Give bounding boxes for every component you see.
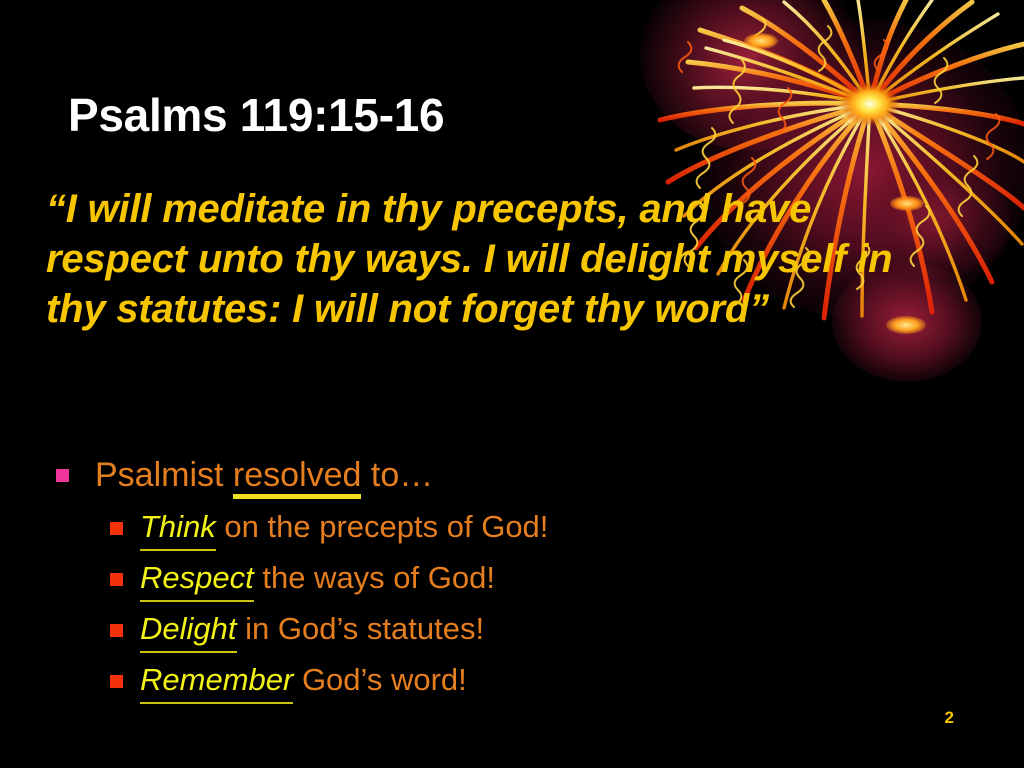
bullet-rest-text: God’s word! bbox=[293, 662, 466, 697]
bullet-keyword-remember: Remember bbox=[140, 655, 293, 705]
square-bullet-icon bbox=[56, 469, 69, 482]
bullet-level2-item: Respect the ways of God! bbox=[40, 553, 940, 603]
bullet-rest-text: the ways of God! bbox=[254, 560, 495, 595]
presentation-slide: Psalms 119:15-16 “I will meditate in thy… bbox=[0, 0, 1024, 768]
bullet-level2-item: Remember God’s word! bbox=[40, 655, 940, 705]
bullet-list: Psalmist resolved to… Think on the prece… bbox=[40, 452, 940, 706]
bullet-level2-item: Think on the precepts of God! bbox=[40, 502, 940, 552]
scripture-quote: “I will meditate in thy precepts, and ha… bbox=[46, 184, 926, 334]
bullet-keyword-delight: Delight bbox=[140, 604, 237, 654]
glow-blob-upper-left bbox=[640, 0, 860, 150]
bullet-rest-text: on the precepts of God! bbox=[216, 509, 549, 544]
bullet-keyword-respect: Respect bbox=[140, 553, 254, 603]
spark-upper-left bbox=[744, 33, 778, 49]
square-bullet-icon bbox=[110, 624, 123, 637]
square-bullet-icon bbox=[110, 675, 123, 688]
bullet-rest-text: in God’s statutes! bbox=[237, 611, 485, 646]
bullet-keyword-think: Think bbox=[140, 502, 216, 552]
bullet-suffix-text: to… bbox=[361, 456, 433, 494]
bullet-level1-item: Psalmist resolved to… bbox=[40, 452, 940, 498]
firework-core bbox=[840, 82, 900, 126]
square-bullet-icon bbox=[110, 522, 123, 535]
bullet-prefix-text: Psalmist bbox=[95, 456, 233, 494]
page-number: 2 bbox=[945, 708, 954, 728]
bullet-keyword-resolved: resolved bbox=[233, 452, 362, 498]
slide-title: Psalms 119:15-16 bbox=[68, 88, 444, 142]
square-bullet-icon bbox=[110, 573, 123, 586]
bullet-level2-item: Delight in God’s statutes! bbox=[40, 604, 940, 654]
